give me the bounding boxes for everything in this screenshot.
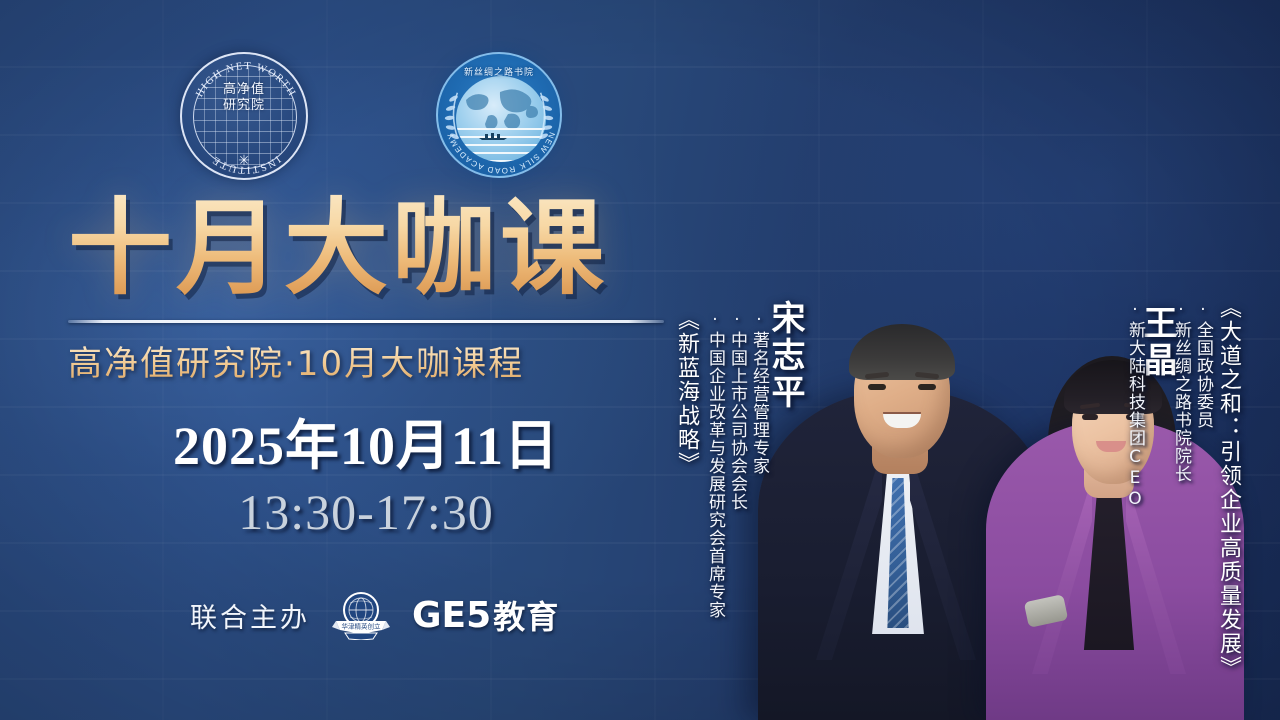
sponsor-row: 联合主办 华津精英创立 GE5 教育 [190, 590, 559, 640]
event-poster: 高净值 研究院 ✳ HIGH NET WORTH INSTITUTE [0, 0, 1280, 720]
academy-circle: 新丝绸之路书院 NEW SILK ROAD ACADEMY [436, 52, 562, 178]
seal-circle: 高净值 研究院 ✳ HIGH NET WORTH INSTITUTE [180, 52, 308, 180]
eye-right [918, 384, 936, 390]
speaker-credential-wang-2: ·新丝绸之路书院院长 [1169, 300, 1194, 483]
event-date: 2025年10月11日 [68, 415, 664, 477]
ge5-cn-wordmark: 教育 [493, 592, 559, 638]
headline-block: 十月大咖课 高净值研究院·10月大咖课程 2025年10月11日 13:30-1… [68, 192, 668, 541]
high-net-worth-institute-logo: 高净值 研究院 ✳ HIGH NET WORTH INSTITUTE [180, 52, 308, 180]
academy-ring-text: NEW SILK ROAD ACADEMY [438, 54, 560, 176]
speaker-credential-song-2: ·中国上市公司协会会长 [725, 310, 750, 511]
hair [849, 324, 955, 380]
event-time: 13:30-17:30 [68, 483, 664, 541]
seal-ring-text: HIGH NET WORTH INSTITUTE [182, 54, 306, 178]
svg-text:INSTITUTE: INSTITUTE [210, 153, 282, 175]
eye-left [1082, 414, 1098, 420]
poster-subtitle: 高净值研究院·10月大咖课程 [68, 343, 668, 385]
speakers-section: 宋志平 ·著名经营管理专家 ·中国上市公司协会会长 ·中国企业改革与发展研究会首… [660, 0, 1280, 720]
speaker-credential-song-3: ·中国企业改革与发展研究会首席专家 [703, 310, 728, 619]
ge5-brand: GE5 教育 [412, 592, 559, 638]
poster-title: 十月大咖课 [68, 192, 668, 304]
speaker-credential-song-1: ·著名经营管理专家 [747, 310, 772, 475]
svg-text:华津精英创立: 华津精英创立 [342, 622, 382, 631]
new-silk-road-academy-logo: 新丝绸之路书院 NEW SILK ROAD ACADEMY [436, 52, 564, 180]
logo-row: 高净值 研究院 ✳ HIGH NET WORTH INSTITUTE [180, 52, 564, 180]
eye-left [868, 384, 886, 390]
speaker-topic-wang-jing: 《大道之和：引领企业高质量发展》 [1212, 296, 1244, 680]
speaker-credential-wang-3: ·新大陆科技集团CEO [1123, 300, 1148, 510]
svg-text:HIGH NET WORTH: HIGH NET WORTH [194, 61, 297, 99]
speaker-topic-song-zhiping: 《新蓝海战略》 [670, 308, 702, 476]
ge5-latin-wordmark: GE5 [412, 595, 491, 636]
divider-rule [68, 320, 664, 323]
ge5-badge-icon: 华津精英创立 [332, 590, 390, 640]
sponsor-label: 联合主办 [190, 596, 310, 635]
speaker-photo-wang-jing [980, 175, 1250, 720]
svg-text:NEW SILK ROAD ACADEMY: NEW SILK ROAD ACADEMY [445, 131, 556, 175]
